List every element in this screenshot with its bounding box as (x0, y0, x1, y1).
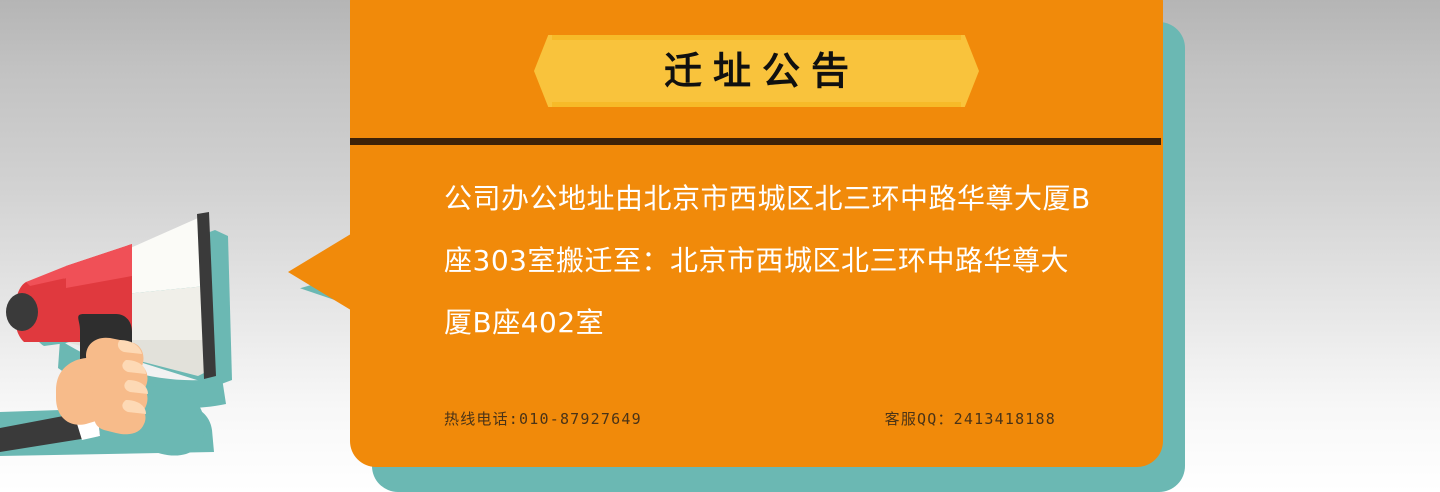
hand-holding-megaphone-illustration (0, 190, 300, 492)
announcement-banner-image: 迁址公告 公司办公地址由北京市西城区北三环中路华尊大厦B座303室搬迁至：北京市… (0, 0, 1440, 492)
hotline-text: 热线电话:010-87927649 (444, 408, 642, 429)
title-banner: 迁址公告 (534, 35, 979, 107)
title-banner-wrap: 迁址公告 (350, 0, 1163, 142)
contact-footer: 热线电话:010-87927649 客服QQ：2413418188 (444, 408, 1094, 429)
banner-title-text: 迁址公告 (653, 52, 860, 90)
qq-text: 客服QQ：2413418188 (885, 408, 1056, 429)
announcement-body-text: 公司办公地址由北京市西城区北三环中路华尊大厦B座303室搬迁至：北京市西城区北三… (444, 168, 1094, 354)
divider (350, 138, 1161, 145)
megaphone-knob-icon (6, 293, 38, 331)
